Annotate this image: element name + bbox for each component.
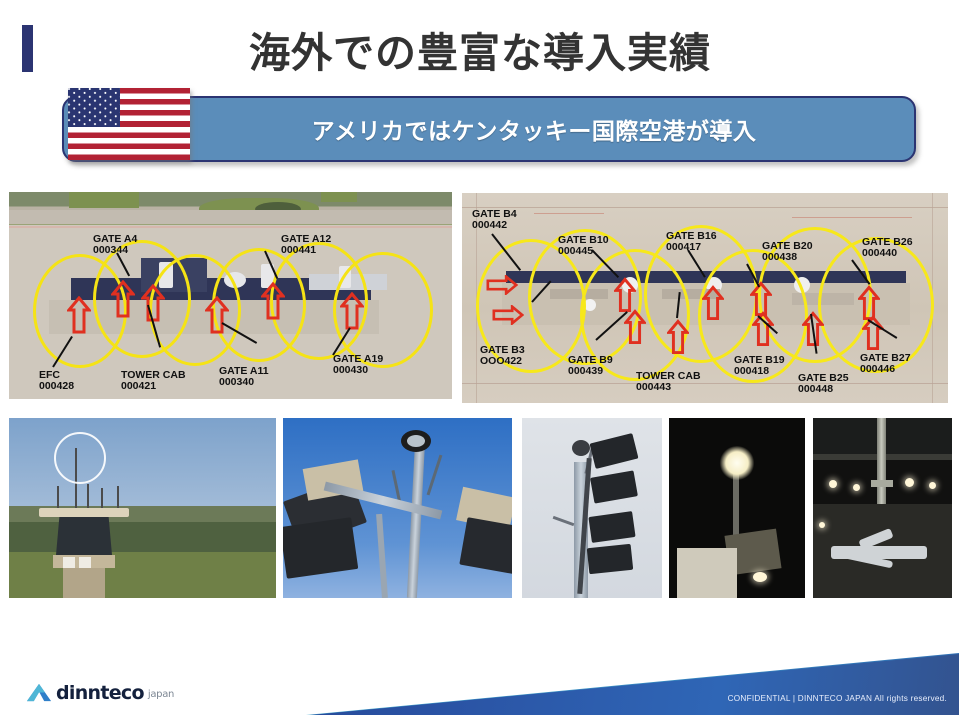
aerial-label-code: OOO422 — [480, 355, 522, 367]
plan-grid-line — [462, 207, 948, 208]
aerial-label: GATE A11000340 — [219, 366, 269, 389]
aerial-label: GATE B3OOO422 — [480, 345, 525, 368]
plan-grid-line — [792, 217, 912, 218]
aerial-label-name: TOWER CAB — [121, 369, 186, 381]
aerial-photo-concourse-a: GATE A4000344 GATE A12000441 EFC000428 T… — [9, 192, 452, 399]
aerial-label-name: GATE B4 — [472, 208, 517, 220]
aerial-label: GATE B16000417 — [666, 231, 717, 254]
title-accent-bar — [22, 25, 33, 72]
floodlight — [283, 517, 358, 579]
tower-deck — [39, 508, 129, 517]
device-arrow — [486, 275, 518, 295]
mast-head — [572, 440, 590, 456]
aerial-label: GATE A19000430 — [333, 354, 383, 377]
dinnteco-logo: dinnteco japan — [26, 683, 174, 702]
aerial-label: GATE B26000440 — [862, 237, 913, 260]
mast-head-core — [407, 435, 425, 447]
aerial-photo-concourse-b: GATE B4000442 GATE B10000445 GATE B16000… — [462, 193, 948, 403]
aerial-label-name: GATE B9 — [568, 354, 613, 366]
aerial-label-name: TOWER CAB — [636, 370, 701, 382]
antenna-mast — [117, 486, 119, 508]
field — [9, 552, 276, 598]
aerial-label-name: GATE A12 — [281, 233, 331, 245]
photo-floodlight-tower — [522, 418, 662, 598]
aerial-label-name: GATE A19 — [333, 353, 383, 365]
plan-grid-line — [462, 383, 948, 384]
grass-patch — [321, 192, 357, 202]
aerial-label-code: 000418 — [734, 365, 769, 377]
aerial-label-code: 000443 — [636, 381, 671, 393]
device-arrow — [492, 305, 524, 325]
device-arrow — [862, 315, 884, 351]
tower-column — [63, 568, 105, 598]
page-title: 海外での豊富な導入実績 — [150, 18, 810, 80]
dinnteco-logo-icon — [26, 683, 52, 702]
device-arrow — [261, 282, 285, 320]
tower-equipment — [79, 557, 91, 568]
country-banner: アメリカではケンタッキー国際空港が導入 — [62, 96, 916, 162]
aerial-label-code: 000430 — [333, 364, 368, 376]
aerial-label-name: GATE B26 — [862, 236, 913, 248]
aerial-label: EFC000428 — [39, 370, 74, 393]
taxiway — [9, 210, 452, 224]
dinnteco-logo-region: japan — [148, 687, 174, 702]
aerial-label: GATE A12000441 — [281, 234, 331, 257]
ground-light — [753, 572, 767, 582]
aerial-label: TOWER CAB000421 — [121, 370, 186, 393]
antenna-mast — [87, 484, 89, 508]
photo-control-tower — [9, 418, 276, 598]
aerial-label-name: GATE B25 — [798, 372, 849, 384]
apron-light — [929, 482, 936, 489]
aerial-label-name: GATE B19 — [734, 354, 785, 366]
aerial-label-code: 000440 — [862, 247, 897, 259]
aerial-label: GATE B9000439 — [568, 355, 613, 378]
pole-bracket — [871, 480, 893, 487]
treeline — [9, 522, 276, 556]
aerial-label-code: 000448 — [798, 383, 833, 395]
apron-light — [829, 480, 837, 488]
photo-night-mast — [669, 418, 805, 598]
aerial-label: GATE B27000446 — [860, 353, 911, 376]
dinnteco-logo-wordmark: dinnteco — [56, 684, 144, 702]
tower-equipment — [63, 557, 75, 568]
aerial-label: GATE B4000442 — [472, 209, 517, 232]
device-arrow — [205, 296, 229, 334]
aerial-label: GATE A4000344 — [93, 234, 137, 257]
aerial-label-code: 000445 — [558, 245, 593, 257]
aerial-label-code: 000421 — [121, 380, 156, 392]
slide-root: 海外での豊富な導入実績 アメリカではケンタッキー国際空港が導入 — [0, 0, 959, 715]
aerial-label: GATE B25000448 — [798, 373, 849, 396]
apron-light — [853, 484, 860, 491]
aerial-label-name: GATE B27 — [860, 352, 911, 364]
apron-light — [905, 478, 914, 487]
aerial-label-code: 000438 — [762, 251, 797, 263]
device-arrow — [67, 296, 91, 334]
aerial-label-name: GATE B3 — [480, 344, 525, 356]
aerial-label-name: GATE B10 — [558, 234, 609, 246]
copyright-text: CONFIDENTIAL | DINNTECO JAPAN All rights… — [728, 694, 947, 703]
highlight-circle — [54, 432, 106, 484]
device-arrow — [624, 309, 646, 345]
grass-patch — [69, 192, 139, 208]
aerial-label-code: 000340 — [219, 376, 254, 388]
aerial-label-code: 000344 — [93, 244, 128, 256]
device-arrow — [340, 292, 364, 330]
apron-marking — [9, 226, 452, 228]
device-arrow — [111, 280, 135, 318]
aerial-label: GATE B19000418 — [734, 355, 785, 378]
aerial-label: TOWER CAB000443 — [636, 371, 701, 394]
aerial-label-code: 000446 — [860, 363, 895, 375]
aerial-label: GATE B10000445 — [558, 235, 609, 258]
tower-cab-glass — [56, 517, 112, 555]
apron-light — [819, 522, 825, 528]
aerial-label-name: GATE B20 — [762, 240, 813, 252]
floodlight — [587, 544, 633, 574]
aerial-label-code: 000417 — [666, 241, 701, 253]
united-states-flag-icon — [68, 88, 190, 160]
antenna-mast — [57, 486, 59, 508]
flag-canton — [68, 88, 120, 127]
aerial-label-code: 000428 — [39, 380, 74, 392]
aerial-label-name: GATE B16 — [666, 230, 717, 242]
aerial-label-code: 000439 — [568, 365, 603, 377]
device-arrow — [141, 284, 165, 322]
photo-light-mast-blue-sky — [283, 418, 512, 598]
aerial-label-code: 000442 — [472, 219, 507, 231]
aerial-label-code: 000441 — [281, 244, 316, 256]
country-banner-label: アメリカではケンタッキー国際空港が導入 — [312, 112, 757, 146]
aerial-label-name: GATE A11 — [219, 365, 269, 377]
structure — [677, 548, 737, 598]
device-arrow — [614, 277, 636, 313]
antenna-mast — [101, 488, 103, 508]
device-arrow — [667, 319, 689, 355]
flag-stars — [68, 88, 120, 127]
aerial-label-name: GATE A4 — [93, 233, 137, 245]
plan-grid-line — [534, 213, 604, 214]
aerial-label-name: EFC — [39, 369, 60, 381]
photo-night-apron — [813, 418, 952, 598]
aerial-label: GATE B20000438 — [762, 241, 813, 264]
lamp-glow — [719, 446, 755, 480]
device-arrow — [702, 285, 724, 321]
